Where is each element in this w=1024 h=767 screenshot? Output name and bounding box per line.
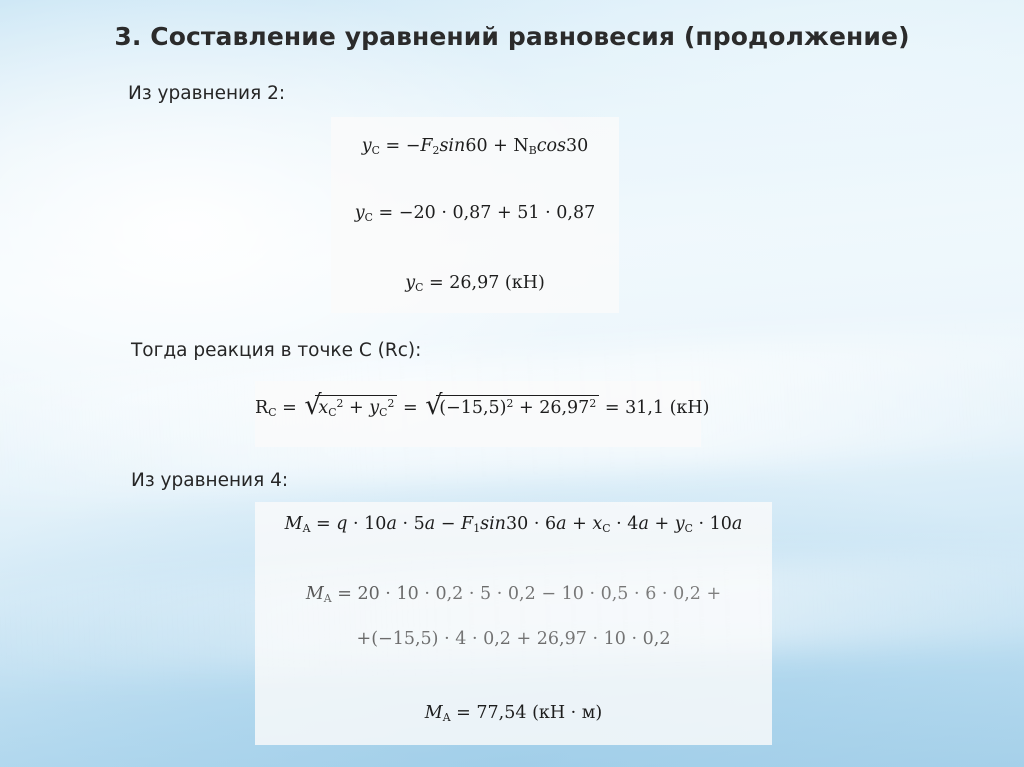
token-sub-c: C [365, 211, 373, 224]
token-plus: + [706, 584, 721, 604]
unit-kn: (кН) [670, 398, 710, 418]
token-dot: · [385, 584, 391, 604]
token-q: q [336, 514, 347, 534]
value-0-5: 0,5 [601, 584, 629, 604]
token-dot: · [616, 514, 622, 534]
token-a: a [425, 514, 435, 534]
label-from-equation-4: Из уравнения 4: [131, 470, 288, 491]
token-angle-60: 60 [465, 136, 487, 156]
token-f: F [420, 136, 432, 156]
token-a: a [732, 514, 742, 534]
equation-yc-result: yC = 26,97 (кН) [331, 273, 619, 294]
token-n: N [513, 136, 528, 156]
token-dot: · [592, 629, 598, 649]
value-0-2: 0,2 [483, 629, 511, 649]
value-0-2: 0,2 [508, 584, 536, 604]
token-minus: − [541, 584, 556, 604]
token-minus: − [399, 203, 414, 223]
token-angle-30: 30 [566, 136, 588, 156]
token-r: R [255, 398, 268, 418]
value-77-54: 77,54 [476, 703, 526, 723]
value-6: 6 [545, 514, 556, 534]
token-dot: · [472, 629, 478, 649]
token-sub-a: A [303, 522, 311, 535]
token-angle-30: 30 [506, 514, 528, 534]
token-sup-2: 2 [589, 397, 596, 410]
token-plus: + [497, 203, 512, 223]
token-plus: + [572, 514, 587, 534]
token-sin: sin [439, 136, 465, 156]
token-dot: · [497, 584, 503, 604]
unit-kn: (кН) [505, 273, 545, 293]
equation-rc: RC = √xC2 + yC2 = √(−15,5)2 + 26,972 = 3… [255, 395, 701, 419]
token-plus: + [517, 629, 532, 649]
token-sub-c: C [372, 144, 380, 157]
token-sup-2: 2 [387, 397, 394, 410]
token-equals: = [379, 203, 394, 223]
token-minus: − [441, 514, 456, 534]
token-sub-c: C [602, 522, 610, 535]
token-equals: = [337, 584, 352, 604]
value-10: 10 [604, 629, 626, 649]
value-5: 5 [414, 514, 425, 534]
token-sup-2: 2 [337, 397, 344, 410]
radical-sign-icon: √ [304, 395, 321, 417]
label-then-reaction-at-c: Тогда реакция в точке C (Rc): [131, 340, 421, 361]
value-26-97: 26,97 [537, 629, 587, 649]
token-equals: = [316, 514, 331, 534]
slide-canvas: 3. Составление уравнений равновесия (про… [0, 0, 1024, 767]
value-0-2: 0,2 [673, 584, 701, 604]
token-a: a [638, 514, 648, 534]
value-10: 10 [364, 514, 386, 534]
token-dot: · [662, 584, 668, 604]
token-dot: · [634, 584, 640, 604]
token-equals: = [429, 273, 444, 293]
token-y: y [405, 273, 415, 293]
token-y: y [355, 203, 365, 223]
token-sub-c: C [268, 406, 276, 419]
token-plus: + [519, 398, 534, 418]
token-plus: + [357, 629, 372, 649]
token-plus: + [493, 136, 508, 156]
token-a: a [556, 514, 566, 534]
token-sub-c: C [415, 281, 423, 294]
value-31-1: 31,1 [625, 398, 664, 418]
value-10: 10 [710, 514, 732, 534]
radical-numeric: √(−15,5)2 + 26,972 [425, 395, 599, 418]
equation-block-rc: RC = √xC2 + yC2 = √(−15,5)2 + 26,972 = 3… [255, 381, 701, 447]
equation-block-ma: MA = q · 10a · 5a − F1sin30 · 6a + xC · … [255, 502, 772, 745]
token-y: y [675, 514, 685, 534]
label-from-equation-2: Из уравнения 2: [128, 83, 285, 104]
value-15-5: 15,5 [461, 398, 500, 418]
equation-ma-numeric-part2: +(−15,5) · 4 · 0,2 + 26,97 · 10 · 0,2 [255, 629, 772, 649]
equation-yc-numeric: yC = −20 · 0,87 + 51 · 0,87 [331, 203, 619, 224]
token-minus: − [446, 398, 461, 418]
token-sub-a: A [443, 711, 451, 724]
token-plus: + [349, 398, 364, 418]
token-sub-c: C [328, 406, 336, 419]
token-dot: · [444, 629, 450, 649]
token-sub-a: A [324, 592, 332, 605]
token-x: x [592, 514, 602, 534]
token-dot: · [469, 584, 475, 604]
token-equals: = [456, 703, 471, 723]
value-20: 20 [413, 203, 435, 223]
token-dot: · [441, 203, 447, 223]
value-4: 4 [627, 514, 638, 534]
token-m: M [425, 703, 443, 723]
token-equals: = [385, 136, 400, 156]
equation-ma-numeric-part1: MA = 20 · 10 · 0,2 · 5 · 0,2 − 10 · 0,5 … [255, 584, 772, 605]
token-m: M [285, 514, 303, 534]
token-equals: = [282, 398, 297, 418]
token-sin: sin [480, 514, 506, 534]
unit-kn-m: (кН · м) [532, 703, 602, 723]
token-dot: · [698, 514, 704, 534]
radical-sign-icon: √ [425, 395, 442, 417]
token-dot: · [353, 514, 359, 534]
value-26-97: 26,97 [539, 398, 589, 418]
token-f: F [461, 514, 473, 534]
value-4: 4 [455, 629, 466, 649]
page-title: 3. Составление уравнений равновесия (про… [0, 22, 1024, 51]
value-26-97: 26,97 [449, 273, 499, 293]
value-0-87: 0,87 [452, 203, 491, 223]
token-cos: cos [537, 136, 566, 156]
token-equals: = [403, 398, 418, 418]
token-lparen: ( [371, 629, 378, 649]
token-sub-b: B [529, 144, 537, 157]
token-sub-c: C [685, 522, 693, 535]
token-minus: − [406, 136, 421, 156]
token-dot: · [534, 514, 540, 534]
token-dot: · [631, 629, 637, 649]
value-0-2: 0,2 [435, 584, 463, 604]
token-m: M [306, 584, 324, 604]
radical-symbolic: √xC2 + yC2 [304, 395, 397, 419]
radicand-symbolic: xC2 + yC2 [315, 395, 397, 419]
token-minus: − [378, 629, 393, 649]
equation-ma-symbolic: MA = q · 10a · 5a − F1sin30 · 6a + xC · … [255, 514, 772, 535]
token-y: y [369, 398, 379, 418]
radicand-numeric: (−15,5)2 + 26,972 [436, 395, 599, 418]
token-dot: · [402, 514, 408, 534]
value-15-5: 15,5 [393, 629, 432, 649]
value-10: 10 [396, 584, 418, 604]
token-dot: · [589, 584, 595, 604]
token-rparen: ) [432, 629, 439, 649]
value-20: 20 [357, 584, 379, 604]
equation-ma-result: MA = 77,54 (кН · м) [255, 703, 772, 724]
value-0-2: 0,2 [643, 629, 671, 649]
token-dot: · [424, 584, 430, 604]
equation-yc-symbolic: yC = −F2sin60 + NBcos30 [331, 136, 619, 157]
value-5: 5 [480, 584, 491, 604]
token-plus: + [654, 514, 669, 534]
token-sup-2: 2 [506, 397, 513, 410]
equation-block-yc: yC = −F2sin60 + NBcos30 yC = −20 · 0,87 … [331, 117, 619, 313]
value-10: 10 [562, 584, 584, 604]
token-y: y [362, 136, 372, 156]
value-0-87: 0,87 [556, 203, 595, 223]
value-6: 6 [645, 584, 656, 604]
token-a: a [386, 514, 396, 534]
token-equals: = [605, 398, 620, 418]
value-51: 51 [517, 203, 539, 223]
token-dot: · [545, 203, 551, 223]
